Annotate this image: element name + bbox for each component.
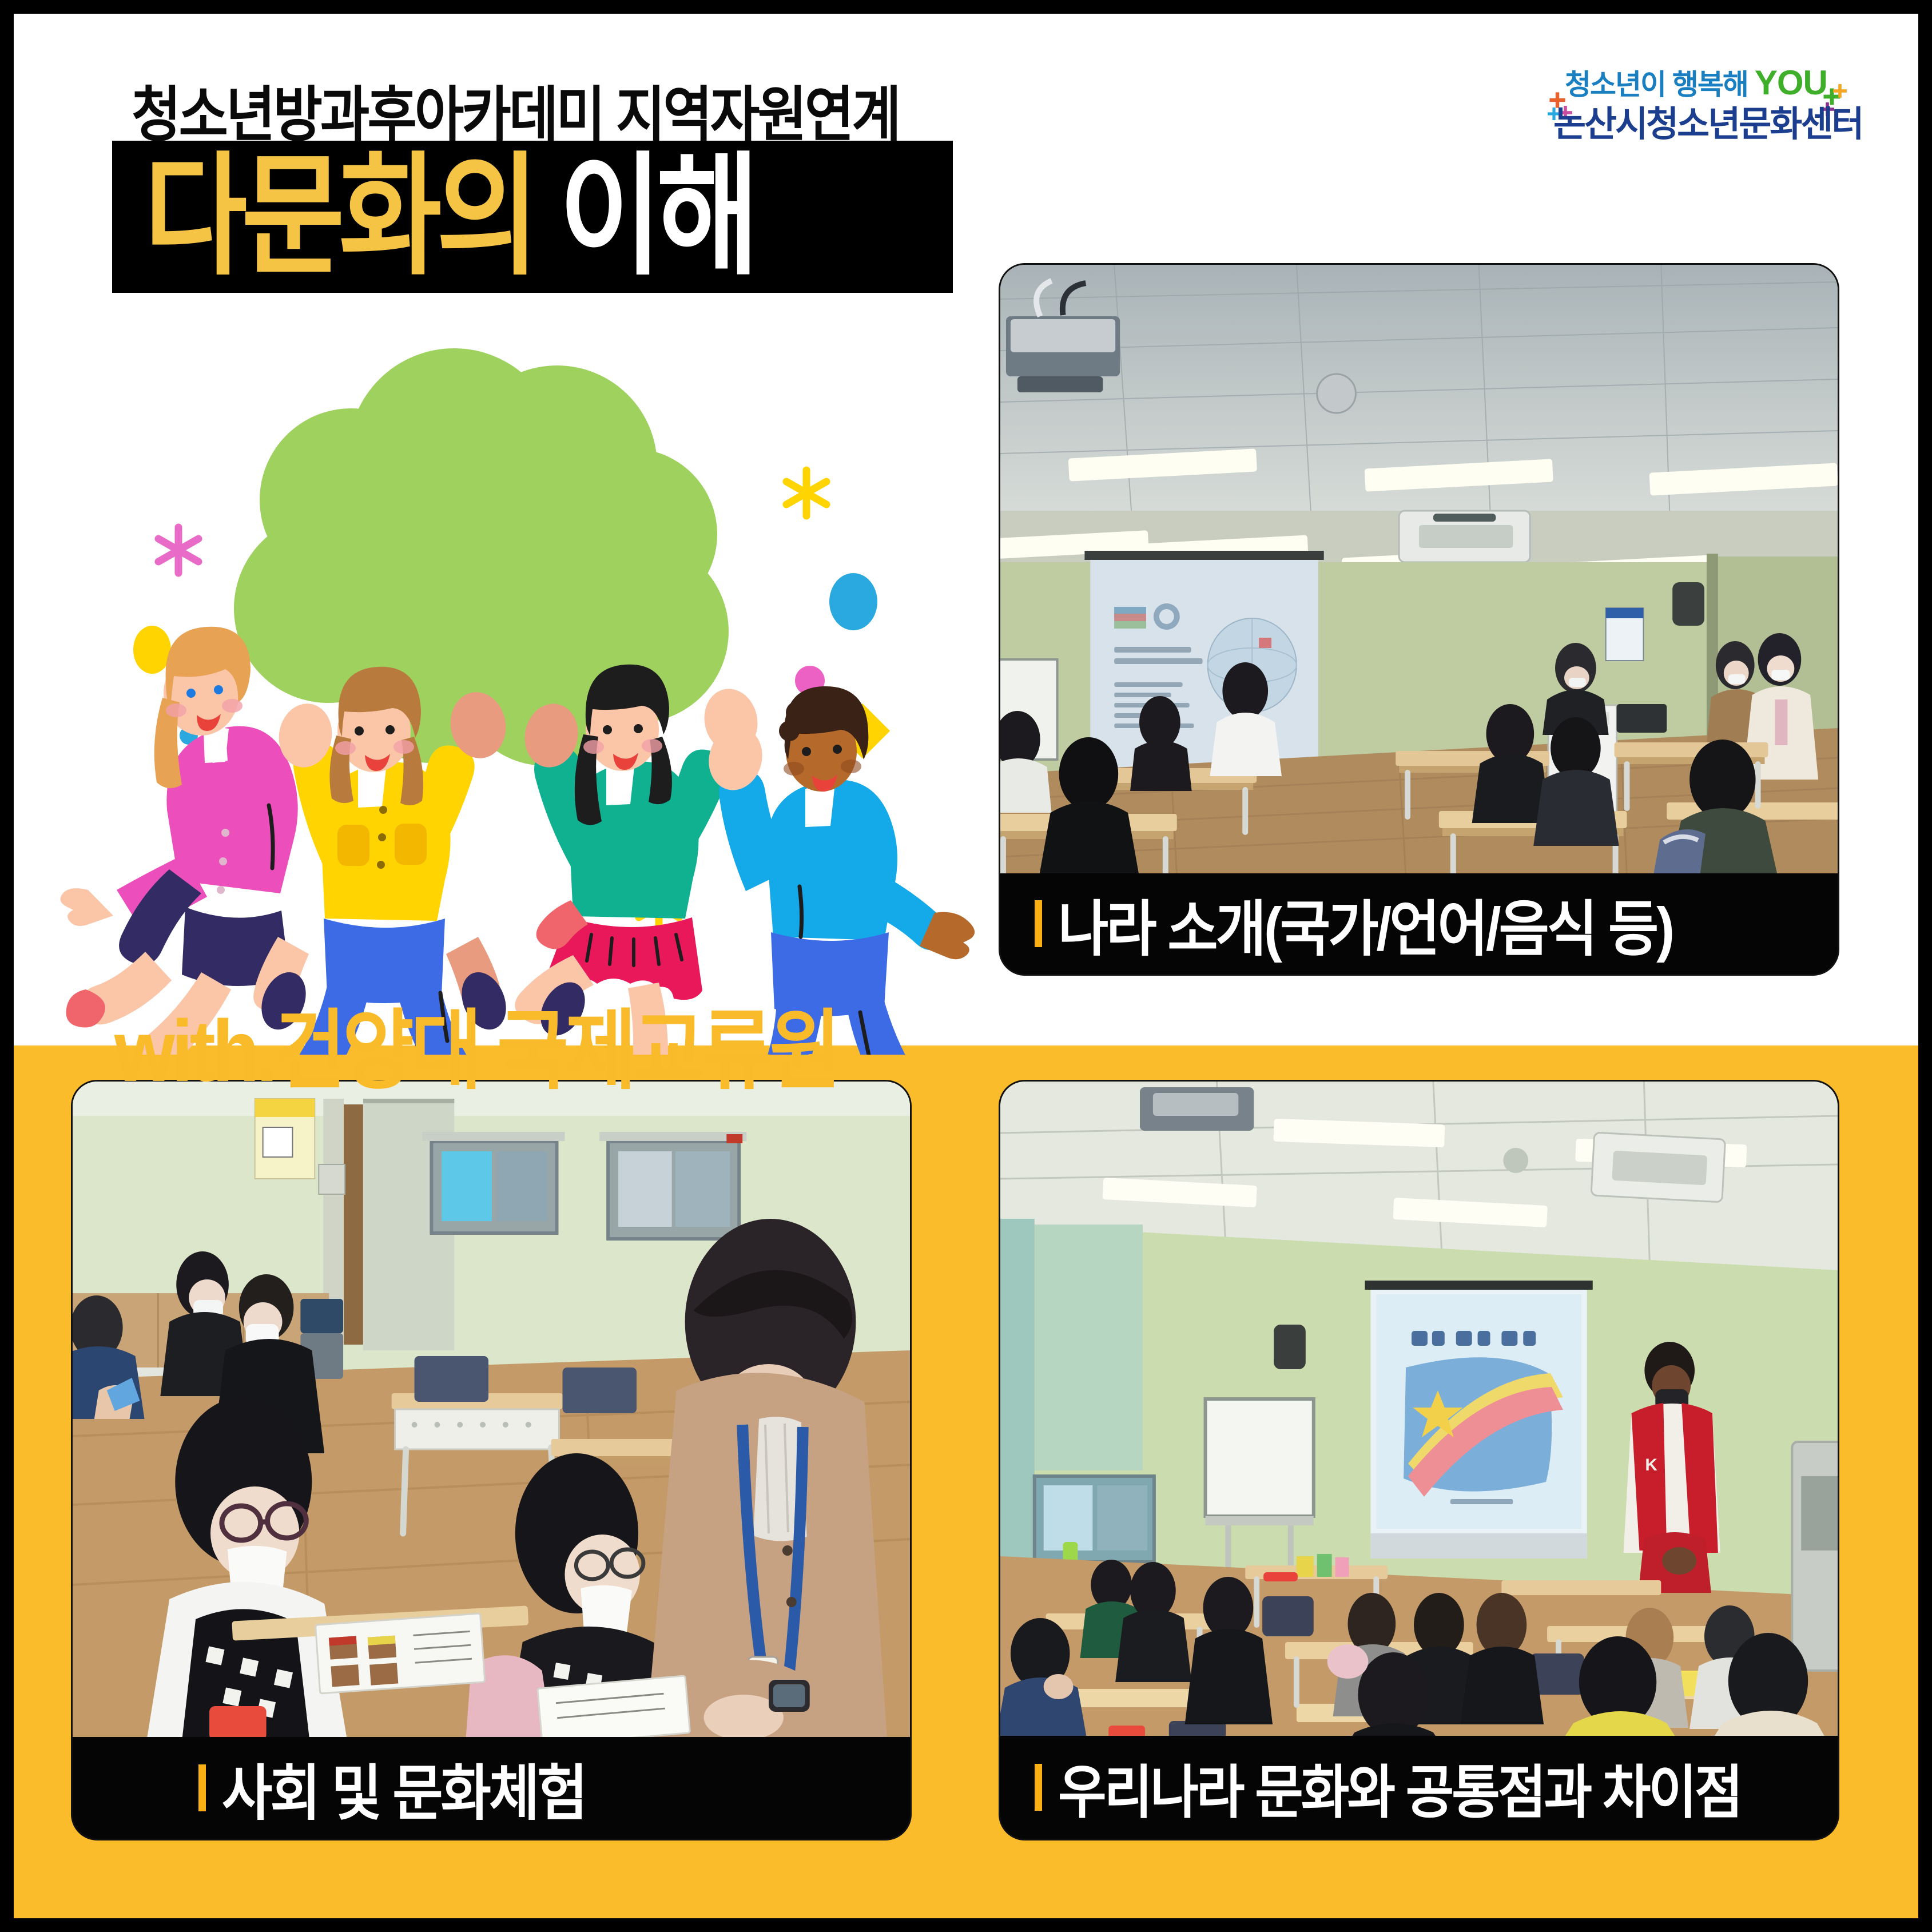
poster-root: 청소년방과후아카데미 지역자원연계 다문화의 이해 청소년이 행복해 YOU 논… (0, 0, 1932, 1932)
caption-accent-bar (1035, 900, 1042, 947)
page-title-rest: 이해 (559, 150, 754, 283)
wall-speaker-icon (1274, 1325, 1306, 1369)
photo-image-compare: K 22 (1000, 1082, 1838, 1739)
wall-speaker-icon (1672, 582, 1704, 626)
photo-caption-intro: 나라 소개(국가/언어/음식 등) (1000, 873, 1838, 974)
page-title-highlight: 다문화의 (144, 150, 534, 283)
slide-congo (1376, 1294, 1581, 1529)
center-logo: 청소년이 행복해 YOU 논산시청소년문화센터 (1548, 62, 1845, 130)
photo-card-intro: 나라 소개(국가/언어/음식 등) (999, 263, 1839, 976)
photo-image-culture-experience (73, 1082, 910, 1740)
photo-card-compare: K 22 (999, 1080, 1839, 1840)
asterisk-confetti-icon (786, 470, 826, 516)
photo-card-culture-experience: 사회 및 문화체험 (71, 1080, 912, 1840)
air-conditioner-icon (1591, 1132, 1725, 1202)
circle-confetti-icon (133, 626, 171, 674)
caption-accent-bar (198, 1764, 206, 1811)
page-title-box: 다문화의 이해 (112, 141, 953, 293)
asterisk-confetti-icon (158, 527, 198, 573)
svg-text:K: K (1645, 1456, 1657, 1474)
photo-caption-culture-experience: 사회 및 문화체험 (73, 1737, 910, 1839)
svg-text:22: 22 (1688, 1449, 1708, 1470)
air-conditioner-icon (1399, 511, 1530, 562)
diversity-illustration (54, 311, 980, 1055)
caption-accent-bar (1035, 1764, 1042, 1811)
photo-image-intro (1000, 265, 1838, 877)
photo-caption-compare: 우리나라 문화와 공통점과 차이점 (1000, 1736, 1838, 1839)
caption-text: 우리나라 문화와 공통점과 차이점 (1058, 1746, 1741, 1829)
caption-text: 사회 및 문화체험 (222, 1744, 586, 1832)
poster-canvas: 청소년방과후아카데미 지역자원연계 다문화의 이해 청소년이 행복해 YOU 논… (14, 14, 1918, 1918)
partner-credit: with.건양대 국제교류원 (114, 980, 837, 1107)
circle-confetti-icon (829, 573, 877, 630)
caption-text: 나라 소개(국가/언어/음식 등) (1058, 880, 1672, 968)
logo-center-name: 논산시청소년문화센터 (1553, 95, 1862, 146)
